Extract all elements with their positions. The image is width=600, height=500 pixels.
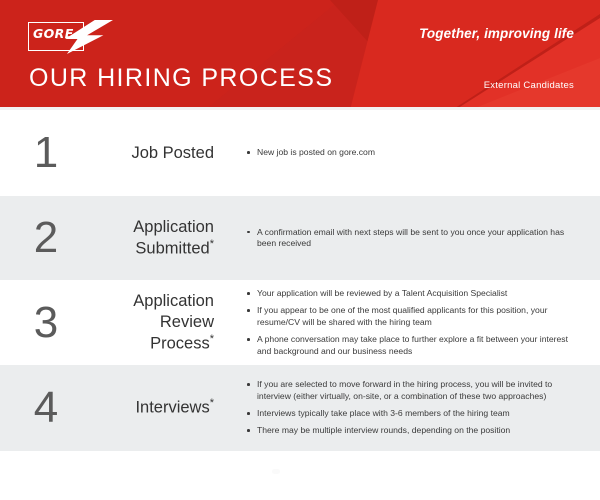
asterisk-mark: * bbox=[210, 397, 214, 409]
asterisk-mark: * bbox=[210, 333, 214, 345]
step-bullets: New job is posted on gore.com bbox=[218, 147, 600, 158]
step-title-line: Interviews bbox=[135, 399, 209, 417]
step-title: Application Submitted* bbox=[96, 217, 218, 259]
list-item: There may be multiple interview rounds, … bbox=[246, 425, 578, 436]
steps-list: 1 Job Posted New job is posted on gore.c… bbox=[0, 110, 600, 451]
tagline: Together, improving life bbox=[419, 26, 574, 41]
step-row: 3 Application Review Process* Your appli… bbox=[0, 280, 600, 365]
footer-area bbox=[0, 451, 600, 495]
list-item: If you are selected to move forward in t… bbox=[246, 379, 578, 402]
step-title-line: Job Posted bbox=[131, 144, 214, 162]
list-item: A phone conversation may take place to f… bbox=[246, 334, 578, 357]
page-title: OUR HIRING PROCESS bbox=[29, 64, 333, 93]
step-title-line: Application bbox=[133, 292, 214, 310]
step-row: 1 Job Posted New job is posted on gore.c… bbox=[0, 110, 600, 196]
step-row: 2 Application Submitted* A confirmation … bbox=[0, 196, 600, 280]
list-item: New job is posted on gore.com bbox=[246, 147, 578, 158]
asterisk-mark: * bbox=[210, 238, 214, 250]
step-title-line: Application bbox=[133, 218, 214, 236]
page-header: GORE Together, improving life OUR HIRING… bbox=[0, 0, 600, 110]
list-item: A confirmation email with next steps wil… bbox=[246, 227, 578, 250]
step-number: 3 bbox=[0, 301, 96, 345]
gore-logo[interactable]: GORE bbox=[28, 20, 114, 54]
step-number: 2 bbox=[0, 216, 96, 260]
step-number: 1 bbox=[0, 131, 96, 175]
step-row: 4 Interviews* If you are selected to mov… bbox=[0, 365, 600, 451]
step-bullets: A confirmation email with next steps wil… bbox=[218, 227, 600, 250]
step-title: Job Posted bbox=[96, 143, 218, 164]
step-title: Application Review Process* bbox=[96, 291, 218, 354]
step-title: Interviews* bbox=[96, 397, 218, 418]
footnote-marker bbox=[272, 469, 280, 474]
step-title-line: Process bbox=[150, 334, 210, 352]
list-item: If you appear to be one of the most qual… bbox=[246, 305, 578, 328]
list-item: Interviews typically take place with 3-6… bbox=[246, 408, 578, 419]
step-title-line: Submitted bbox=[135, 239, 209, 257]
hiring-process-infographic: GORE Together, improving life OUR HIRING… bbox=[0, 0, 600, 500]
step-number: 4 bbox=[0, 386, 96, 430]
step-title-line: Review bbox=[160, 313, 214, 331]
list-item: Your application will be reviewed by a T… bbox=[246, 288, 578, 299]
step-bullets: Your application will be reviewed by a T… bbox=[218, 288, 600, 357]
audience-label: External Candidates bbox=[484, 80, 574, 91]
step-bullets: If you are selected to move forward in t… bbox=[218, 379, 600, 436]
